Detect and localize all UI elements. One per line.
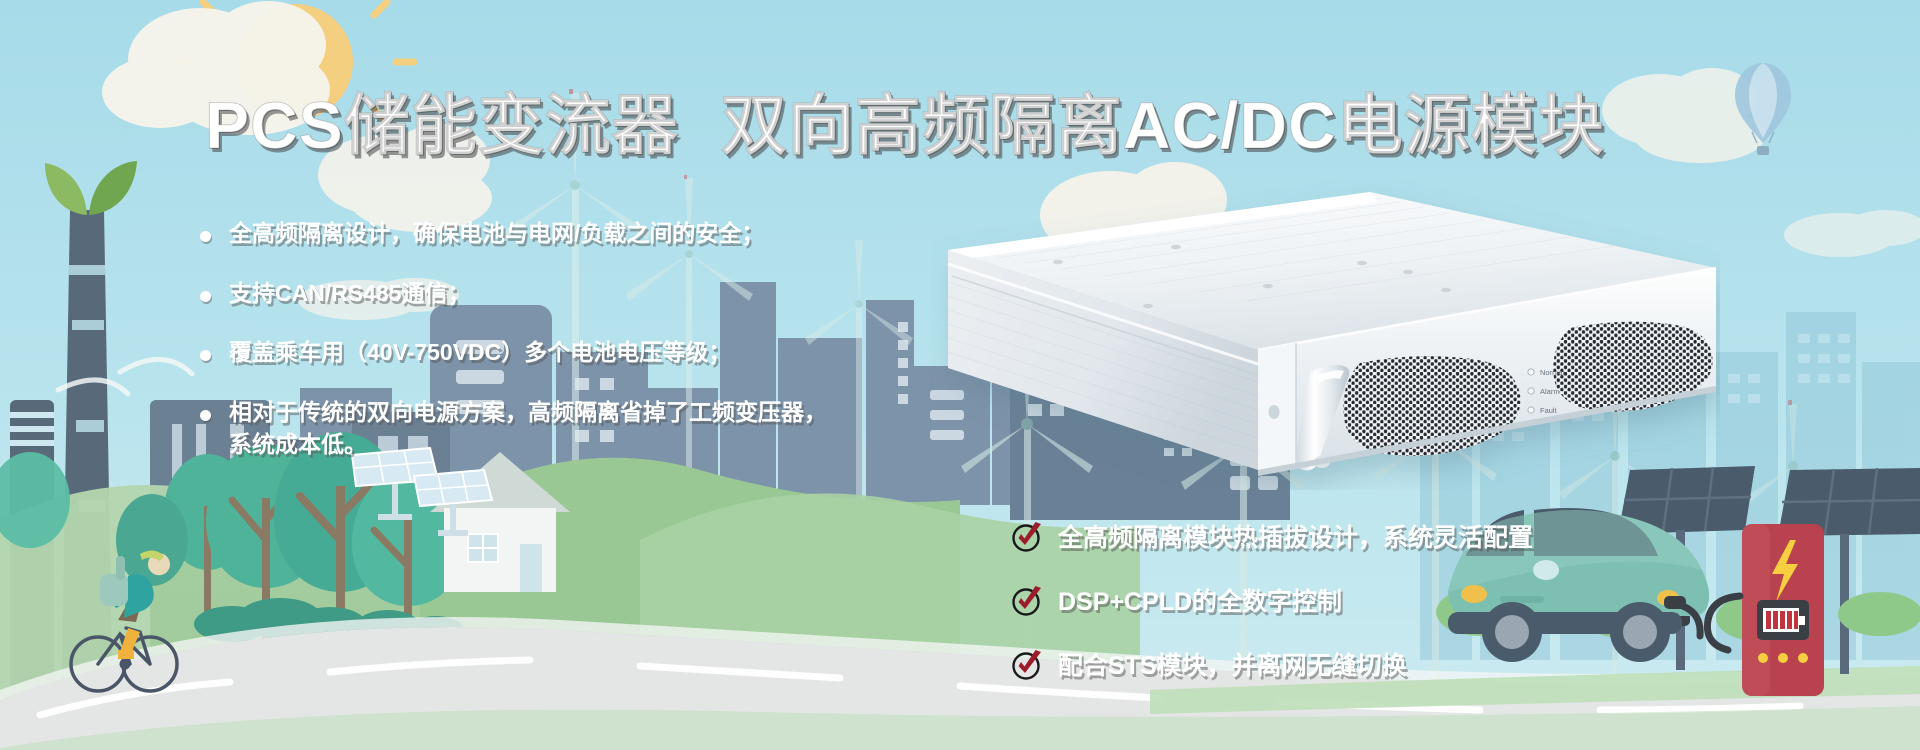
- led-label: Alarm: [1540, 387, 1560, 396]
- check-circle-icon: [1010, 519, 1044, 553]
- check-circle-icon: [1010, 647, 1044, 681]
- checkmark-feature-list: 全高频隔离模块热插拔设计，系统灵活配置 DSP+CPLD的全数字控制 配合STS…: [1010, 518, 1533, 710]
- check-circle-icon: [1010, 583, 1044, 617]
- list-item: 全高频隔离模块热插拔设计，系统灵活配置: [1010, 518, 1533, 554]
- checklist-text: 全高频隔离模块热插拔设计，系统灵活配置: [1058, 518, 1533, 554]
- foreground-grass: [0, 706, 1920, 750]
- cloud-icon: [1784, 210, 1920, 257]
- tree-icon: [0, 452, 70, 548]
- solar-array-large: [1618, 466, 1920, 674]
- wind-turbine-icon: [1741, 400, 1845, 682]
- page-title: PCS储能变流器双向高频隔离AC/DC电源模块: [205, 72, 1605, 168]
- solar-panel-icon: [1778, 468, 1920, 674]
- vent-grille-right: [1553, 322, 1712, 412]
- title-part-2: 双向高频隔离AC/DC电源模块: [721, 88, 1605, 162]
- feature-bullet-list: 全高频隔离设计，确保电池与电网/负载之间的安全； 支持CAN/RS485通信； …: [200, 218, 960, 489]
- promo-banner: Normal Alarm Fault PCS储能变流器双向高频隔离AC/DC电源…: [0, 0, 1920, 750]
- checklist-text: 配合STS模块，并离网无缝切换: [1058, 646, 1407, 682]
- road: [0, 627, 1920, 750]
- device-screw: [1269, 405, 1280, 419]
- bullet-dot-icon: [200, 410, 211, 421]
- bush-icon: [194, 598, 464, 644]
- list-item: 支持CAN/RS485通信；: [200, 278, 960, 310]
- road-markings: [40, 660, 1800, 715]
- road-shoulder: [0, 617, 1920, 700]
- tree-icon: [352, 470, 464, 654]
- led-label: Normal: [1540, 368, 1565, 377]
- cyclist-icon: [71, 550, 177, 691]
- led-label: Fault: [1540, 406, 1558, 415]
- hills: [0, 458, 1140, 750]
- checklist-text: DSP+CPLD的全数字控制: [1058, 582, 1342, 618]
- bullet-text: 支持CAN/RS485通信；: [229, 278, 471, 310]
- list-item: 全高频隔离设计，确保电池与电网/负载之间的安全；: [200, 218, 960, 250]
- title-part-1: PCS储能变流器: [205, 88, 679, 162]
- car-wheel: [1610, 602, 1670, 662]
- list-item: 配合STS模块，并离网无缝切换: [1010, 646, 1533, 682]
- bullet-dot-icon: [200, 291, 211, 302]
- list-item: DSP+CPLD的全数字控制: [1010, 582, 1533, 618]
- bullet-text: 全高频隔离设计，确保电池与电网/负载之间的安全；: [229, 218, 764, 250]
- ev-charger-icon: [1666, 524, 1824, 696]
- hot-air-balloon-icon: [1735, 63, 1791, 155]
- bullet-dot-icon: [200, 350, 211, 361]
- list-item: 相对于传统的双向电源方案，高频隔离省掉了工频变压器，系统成本低。: [200, 397, 960, 460]
- bullet-text: 相对于传统的双向电源方案，高频隔离省掉了工频变压器，系统成本低。: [229, 397, 829, 460]
- bullet-dot-icon: [200, 231, 211, 242]
- list-item: 覆盖乘车用（40V-750VDC）多个电池电压等级；: [200, 337, 960, 369]
- cloud-icon: [1602, 68, 1766, 163]
- tree-icon: [116, 494, 188, 586]
- solar-panel-icon: [1618, 466, 1755, 670]
- eco-smokestack-icon: [10, 161, 192, 750]
- bullet-text: 覆盖乘车用（40V-750VDC）多个电池电压等级；: [229, 337, 731, 369]
- pcs-device-image: Normal Alarm Fault: [930, 180, 1720, 490]
